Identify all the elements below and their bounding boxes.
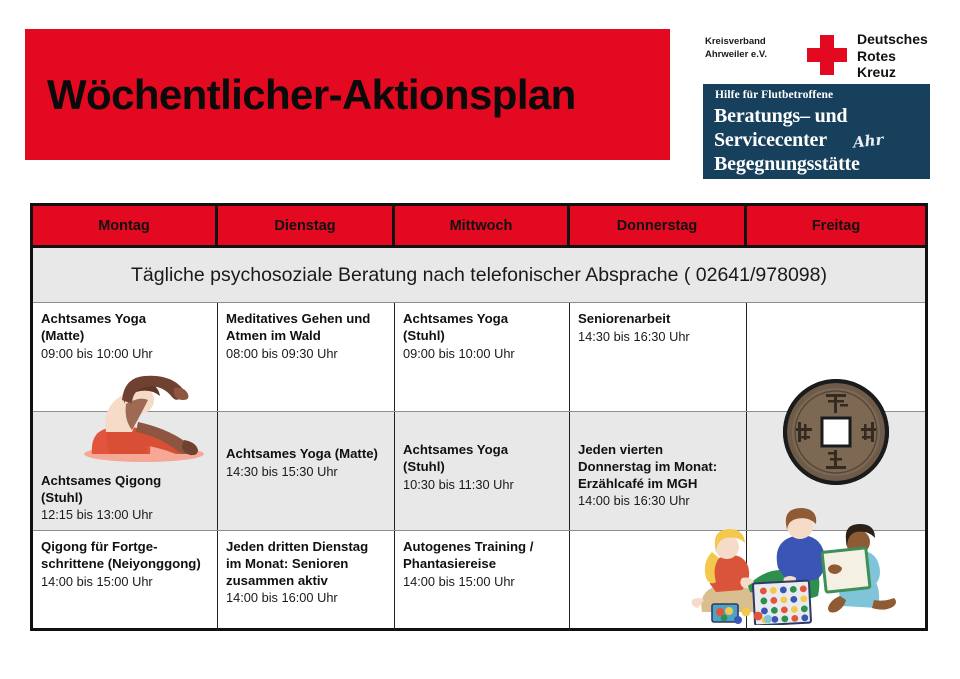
day-header-dienstag: Dienstag <box>218 206 395 245</box>
event-title: Qigong für Fortge-schrittene (Neiyonggon… <box>41 539 210 573</box>
cell-freitag-3 <box>747 531 925 631</box>
cell-freitag-2 <box>747 412 925 530</box>
cell-mittwoch-1: Achtsames Yoga(Stuhl) 09:00 bis 10:00 Uh… <box>395 303 570 411</box>
badge-line-3: Begegnungsstätte <box>714 154 860 174</box>
cell-donnerstag-3 <box>570 531 747 631</box>
event-title: Achtsames Yoga (Matte) <box>226 446 387 463</box>
event-time: 14:30 bis 16:30 Uhr <box>578 329 739 346</box>
event-title: Achtsames Qigong(Stuhl) <box>41 473 211 507</box>
cell-mittwoch-3: Autogenes Training /Phantasiereise 14:00… <box>395 531 570 631</box>
event-title: Meditatives Gehen undAtmen im Wald <box>226 311 387 345</box>
event-time: 14:00 bis 15:00 Uhr <box>41 574 210 591</box>
event-time: 14:00 bis 16:00 Uhr <box>226 590 387 607</box>
cell-montag-2: Achtsames Qigong(Stuhl) 12:15 bis 13:00 … <box>33 412 218 530</box>
event-title: Jeden dritten Dienstagim Monat: Senioren… <box>226 539 387 589</box>
badge-subtitle: Hilfe für Flutbetroffene <box>715 89 833 101</box>
day-header-montag: Montag <box>33 206 218 245</box>
event-time: 12:15 bis 13:00 Uhr <box>41 507 211 524</box>
event-title: Seniorenarbeit <box>578 311 739 328</box>
drk-kreisverband-line1: Kreisverband <box>705 36 797 49</box>
event-time: 14:30 bis 15:30 Uhr <box>226 464 387 481</box>
cell-donnerstag-1: Seniorenarbeit 14:30 bis 16:30 Uhr <box>570 303 747 411</box>
weekly-plan-table: Montag Dienstag Mittwoch Donnerstag Frei… <box>30 203 928 631</box>
event-title: Achtsames Yoga(Stuhl) <box>403 311 562 345</box>
event-time: 09:00 bis 10:00 Uhr <box>403 346 562 363</box>
drk-kreisverband-label: Kreisverband Ahrweiler e.V. <box>705 36 797 62</box>
day-header-freitag: Freitag <box>747 206 925 245</box>
page-title: Wöchentlicher-Aktionsplan <box>47 71 576 119</box>
table-header-row: Montag Dienstag Mittwoch Donnerstag Frei… <box>33 206 925 248</box>
event-time: 08:00 bis 09:30 Uhr <box>226 346 387 363</box>
drk-logo: Kreisverband Ahrweiler e.V. Deutsches Ro… <box>705 31 920 79</box>
drk-name-line3: Kreuz <box>857 64 928 81</box>
cell-mittwoch-2: Achtsames Yoga(Stuhl) 10:30 bis 11:30 Uh… <box>395 412 570 530</box>
ahr-script-wordmark: Ahr <box>852 130 884 151</box>
cell-montag-1: Achtsames Yoga(Matte) 09:00 bis 10:00 Uh… <box>33 303 218 411</box>
event-time: 09:00 bis 10:00 Uhr <box>41 346 210 363</box>
daily-counseling-text: Tägliche psychosoziale Beratung nach tel… <box>131 264 827 287</box>
drk-kreisverband-line2: Ahrweiler e.V. <box>705 49 797 62</box>
event-title: Autogenes Training /Phantasiereise <box>403 539 562 573</box>
daily-counseling-banner: Tägliche psychosoziale Beratung nach tel… <box>33 248 925 303</box>
cell-freitag-1 <box>747 303 925 411</box>
event-title: Jeden viertenDonnerstag im Monat:Erzählc… <box>578 442 739 492</box>
page-header: Wöchentlicher-Aktionsplan Kreisverband A… <box>0 0 960 195</box>
red-cross-icon <box>805 33 849 77</box>
day-header-mittwoch: Mittwoch <box>395 206 570 245</box>
drk-name: Deutsches Rotes Kreuz <box>857 31 928 81</box>
badge-line-2: Servicecenter <box>714 130 827 150</box>
table-row: Achtsames Yoga(Matte) 09:00 bis 10:00 Uh… <box>33 303 925 411</box>
cell-dienstag-1: Meditatives Gehen undAtmen im Wald 08:00… <box>218 303 395 411</box>
badge-line-1: Beratungs– und <box>714 106 847 126</box>
cell-dienstag-2: Achtsames Yoga (Matte) 14:30 bis 15:30 U… <box>218 412 395 530</box>
cell-donnerstag-2: Jeden viertenDonnerstag im Monat:Erzählc… <box>570 412 747 530</box>
drk-name-line2: Rotes <box>857 48 928 65</box>
event-time: 10:30 bis 11:30 Uhr <box>403 477 562 494</box>
event-title: Achtsames Yoga(Stuhl) <box>403 442 562 476</box>
table-row: Achtsames Qigong(Stuhl) 12:15 bis 13:00 … <box>33 411 925 531</box>
title-banner: Wöchentlicher-Aktionsplan <box>25 29 670 160</box>
cell-dienstag-3: Jeden dritten Dienstagim Monat: Senioren… <box>218 531 395 631</box>
cell-montag-3: Qigong für Fortge-schrittene (Neiyonggon… <box>33 531 218 631</box>
drk-name-line1: Deutsches <box>857 31 928 48</box>
service-center-badge: Hilfe für Flutbetroffene Beratungs– und … <box>703 84 930 179</box>
table-row: Qigong für Fortge-schrittene (Neiyonggon… <box>33 531 925 631</box>
event-time: 14:00 bis 16:30 Uhr <box>578 493 739 510</box>
day-header-donnerstag: Donnerstag <box>570 206 747 245</box>
event-title: Achtsames Yoga(Matte) <box>41 311 210 345</box>
event-time: 14:00 bis 15:00 Uhr <box>403 574 562 591</box>
